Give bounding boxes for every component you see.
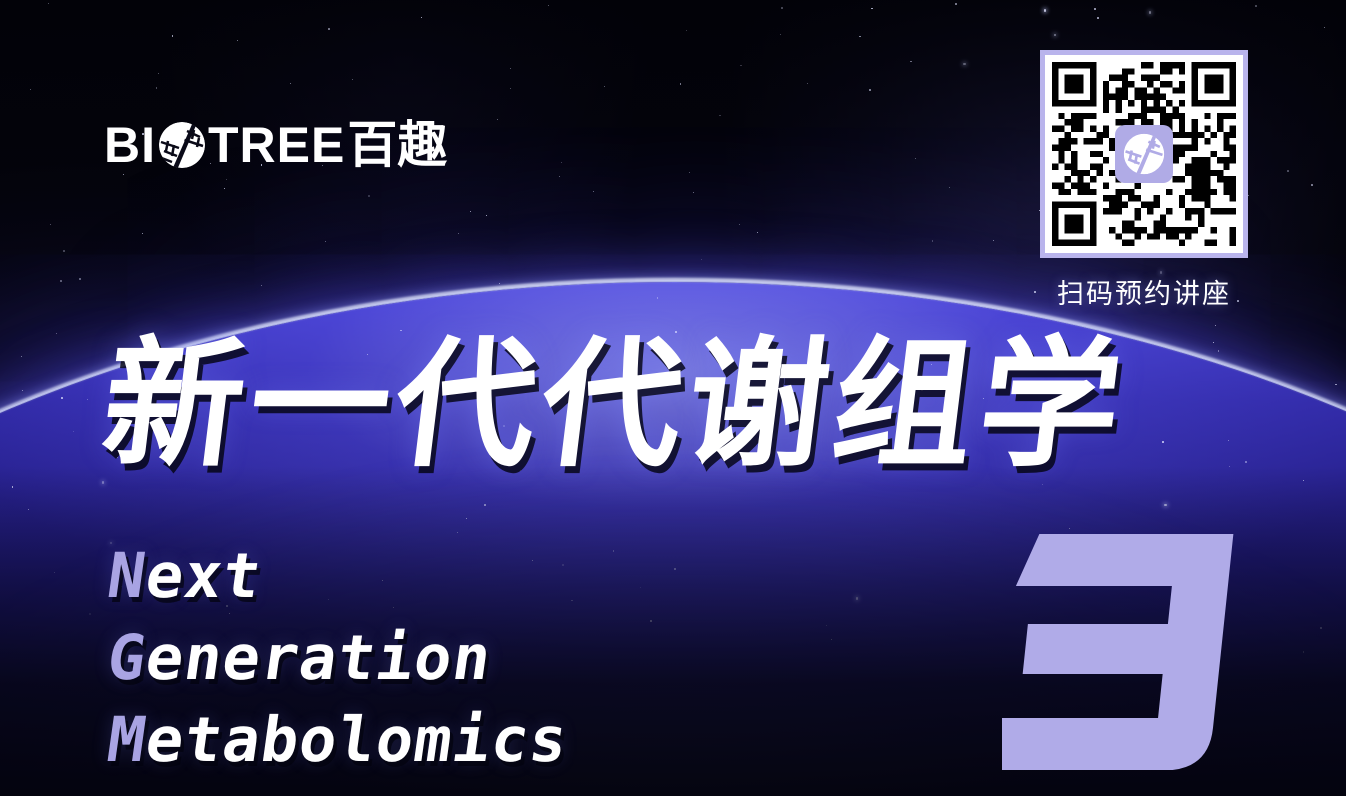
brand-name-suffix: TREE bbox=[208, 120, 345, 170]
subtitle-rest-3: etabolomics bbox=[141, 703, 573, 776]
brand-logo: BI bbox=[104, 116, 447, 174]
leaf-cell-circle-icon bbox=[157, 120, 207, 170]
poster-canvas: BI bbox=[0, 0, 1346, 796]
subtitle-block: Next Generation Metabolomics bbox=[108, 535, 568, 781]
subtitle-rest-1: ext bbox=[141, 539, 266, 612]
episode-number-3 bbox=[1002, 528, 1240, 776]
subtitle-line-3: Metabolomics bbox=[102, 699, 573, 781]
qr-code[interactable] bbox=[1040, 50, 1248, 258]
qr-caption: 扫码预约讲座 bbox=[1040, 272, 1248, 311]
subtitle-line-1: Next bbox=[102, 535, 573, 617]
page-title: 新一代代谢组学 bbox=[95, 336, 1292, 476]
content-layer: BI bbox=[0, 0, 1346, 796]
subtitle-line-2: Generation bbox=[102, 617, 573, 699]
qr-center-badge bbox=[1115, 125, 1173, 183]
brand-name-chinese: 百趣 bbox=[347, 120, 447, 170]
subtitle-rest-2: eneration bbox=[141, 621, 496, 694]
qr-block[interactable]: 扫码预约讲座 bbox=[1040, 50, 1248, 311]
brand-name-prefix: BI bbox=[104, 120, 156, 170]
